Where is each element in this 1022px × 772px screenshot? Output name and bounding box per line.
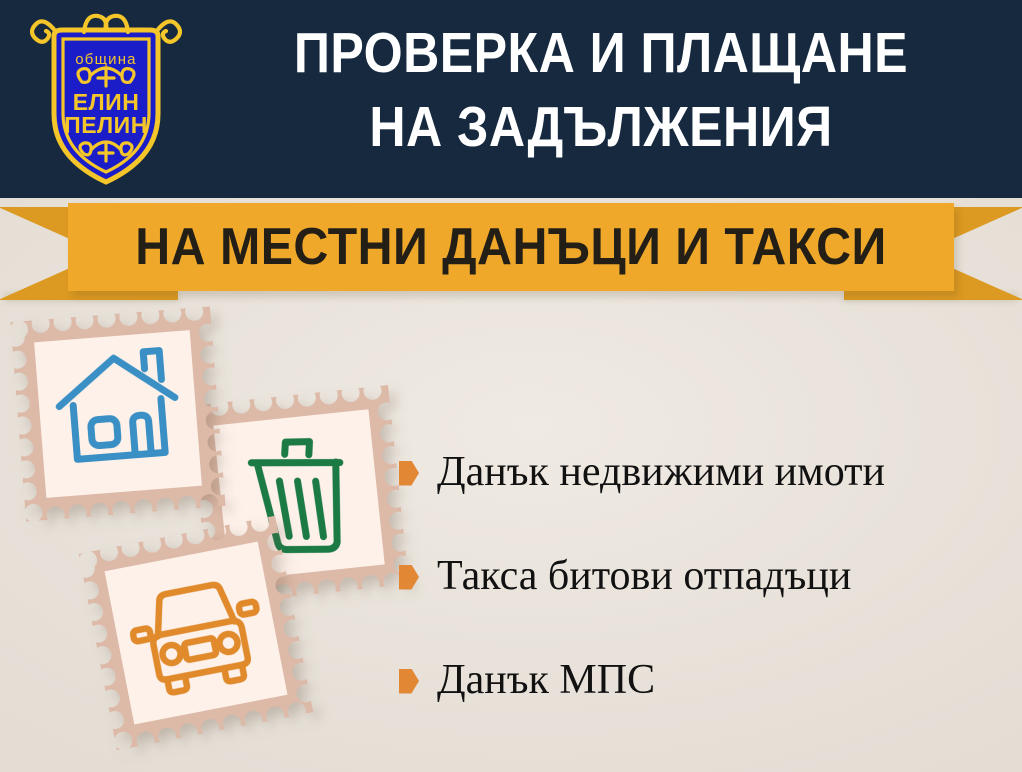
list-item-label: Данък недвижими имоти	[437, 451, 885, 493]
arrow-bullet-icon	[399, 669, 419, 694]
list-item-label: Данък МПС	[437, 659, 655, 701]
title-line-1: ПРОВЕРКА И ПЛАЩАНЕ	[236, 16, 966, 90]
title-line-2: НА ЗАДЪЛЖЕНИЯ	[236, 90, 966, 164]
stamp-card-property	[10, 306, 225, 521]
page-title: ПРОВЕРКА И ПЛАЩАНЕ НА ЗАДЪЛЖЕНИЯ	[186, 16, 1016, 164]
list-item[interactable]: Данък недвижими имоти	[399, 420, 1009, 524]
poster-canvas: община ЕЛИН ПЕЛИН	[0, 0, 1022, 772]
svg-text:община: община	[75, 51, 136, 68]
arrow-bullet-icon	[399, 461, 419, 486]
list-item[interactable]: Данък МПС	[399, 628, 1009, 732]
arrow-bullet-icon	[399, 565, 419, 590]
ribbon-band: НА МЕСТНИ ДАНЪЦИ И ТАКСИ	[68, 203, 954, 291]
list-item[interactable]: Такса битови отпадъци	[399, 524, 1009, 628]
tax-type-list: Данък недвижими имоти Такса битови отпад…	[399, 420, 1009, 732]
ribbon-label: НА МЕСТНИ ДАНЪЦИ И ТАКСИ	[99, 203, 923, 291]
municipality-crest-logo: община ЕЛИН ПЕЛИН	[22, 6, 190, 194]
header-bar: община ЕЛИН ПЕЛИН	[0, 0, 1022, 198]
stamp-card-vehicle	[79, 516, 313, 750]
svg-text:ПЕЛИН: ПЕЛИН	[64, 112, 148, 138]
subtitle-ribbon: НА МЕСТНИ ДАНЪЦИ И ТАКСИ	[0, 195, 1022, 310]
list-item-label: Такса битови отпадъци	[437, 555, 851, 597]
